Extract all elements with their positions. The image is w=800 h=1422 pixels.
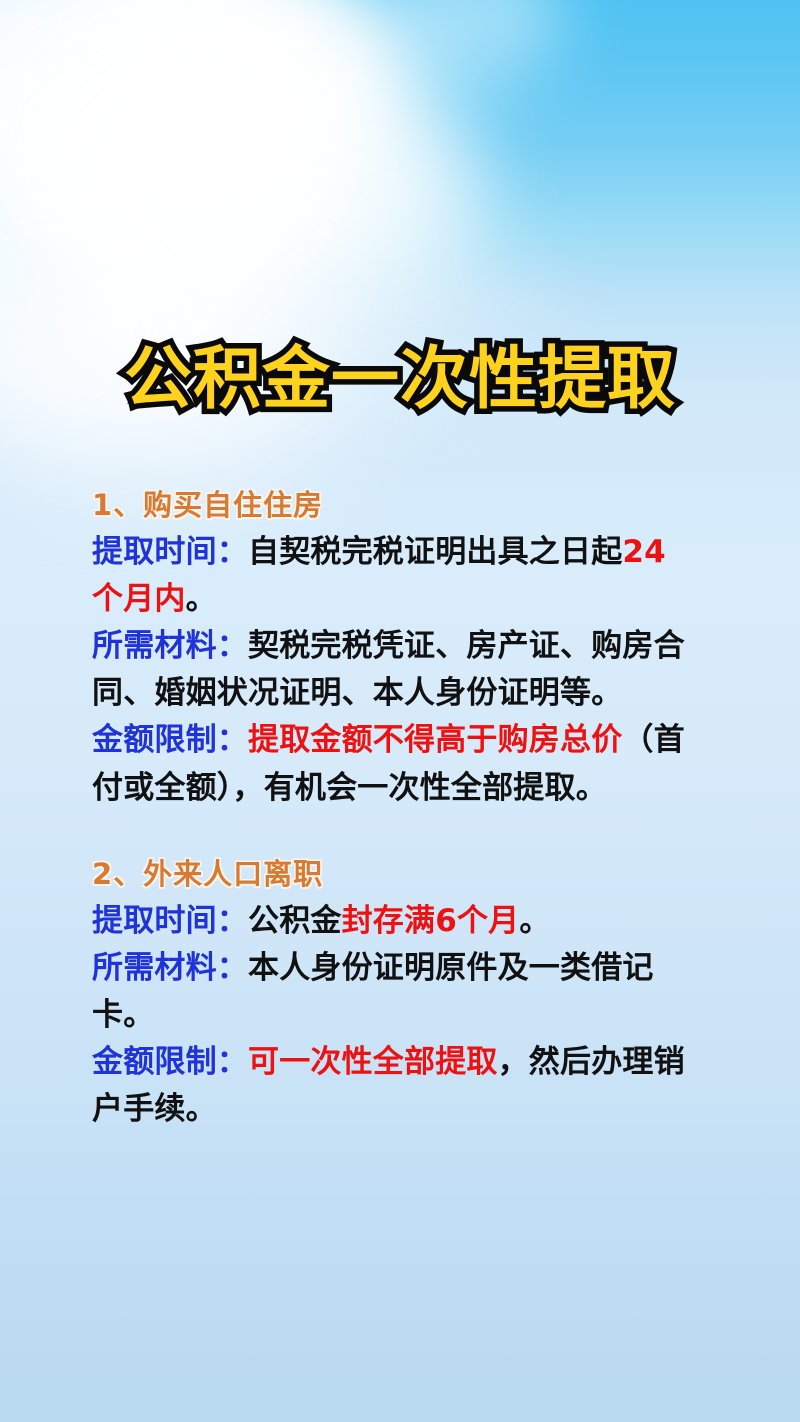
detail-highlight: 封存满6个月 — [342, 903, 520, 939]
detail-label: 所需材料： — [92, 950, 248, 986]
detail-row: 提取时间：公积金封存满6个月。 — [92, 898, 694, 945]
detail-text: 。 — [186, 581, 217, 617]
detail-row: 金额限制：提取金额不得高于购房总价（首付或全额），有机会一次性全部提取。 — [92, 717, 694, 811]
content-section: 1、购买自住住房提取时间：自契税完税证明出具之日起24个月内。所需材料：契税完税… — [92, 485, 694, 812]
detail-text: 公积金 — [248, 903, 342, 939]
detail-label: 金额限制： — [92, 722, 248, 758]
cloud-shape — [10, 10, 350, 310]
section-heading: 1、购买自住住房 — [92, 485, 694, 525]
section-heading: 2、外来人口离职 — [92, 854, 694, 894]
page-title: 公积金一次性提取 — [124, 343, 676, 416]
detail-row: 提取时间：自契税完税证明出具之日起24个月内。 — [92, 529, 694, 623]
detail-text: 。 — [519, 903, 550, 939]
cloud-shape — [0, 0, 340, 240]
detail-highlight: 可一次性全部提取 — [248, 1044, 498, 1080]
detail-text: 自契税完税证明出具之日起 — [248, 534, 622, 570]
cloud-shape — [255, 115, 485, 285]
cloud-shape — [110, 0, 410, 180]
cloud-shape — [380, 0, 560, 90]
detail-label: 金额限制： — [92, 1044, 248, 1080]
cloud-shape — [180, 50, 460, 280]
poster-canvas: 公积金一次性提取 1、购买自住住房提取时间：自契税完税证明出具之日起24个月内。… — [0, 0, 800, 1422]
detail-label: 所需材料： — [92, 628, 248, 664]
content-section: 2、外来人口离职提取时间：公积金封存满6个月。所需材料：本人身份证明原件及一类借… — [92, 854, 694, 1134]
poster-title-container: 公积金一次性提取 — [0, 297, 800, 462]
detail-row: 金额限制：可一次性全部提取，然后办理销户手续。 — [92, 1039, 694, 1133]
detail-highlight: 提取金额不得高于购房总价 — [248, 722, 622, 758]
detail-label: 提取时间： — [92, 903, 248, 939]
detail-row: 所需材料：契税完税凭证、房产证、购房合同、婚姻状况证明、本人身份证明等。 — [92, 623, 694, 717]
poster-body: 1、购买自住住房提取时间：自契税完税证明出具之日起24个月内。所需材料：契税完税… — [92, 485, 694, 1133]
detail-row: 所需材料：本人身份证明原件及一类借记卡。 — [92, 945, 694, 1039]
detail-label: 提取时间： — [92, 534, 248, 570]
